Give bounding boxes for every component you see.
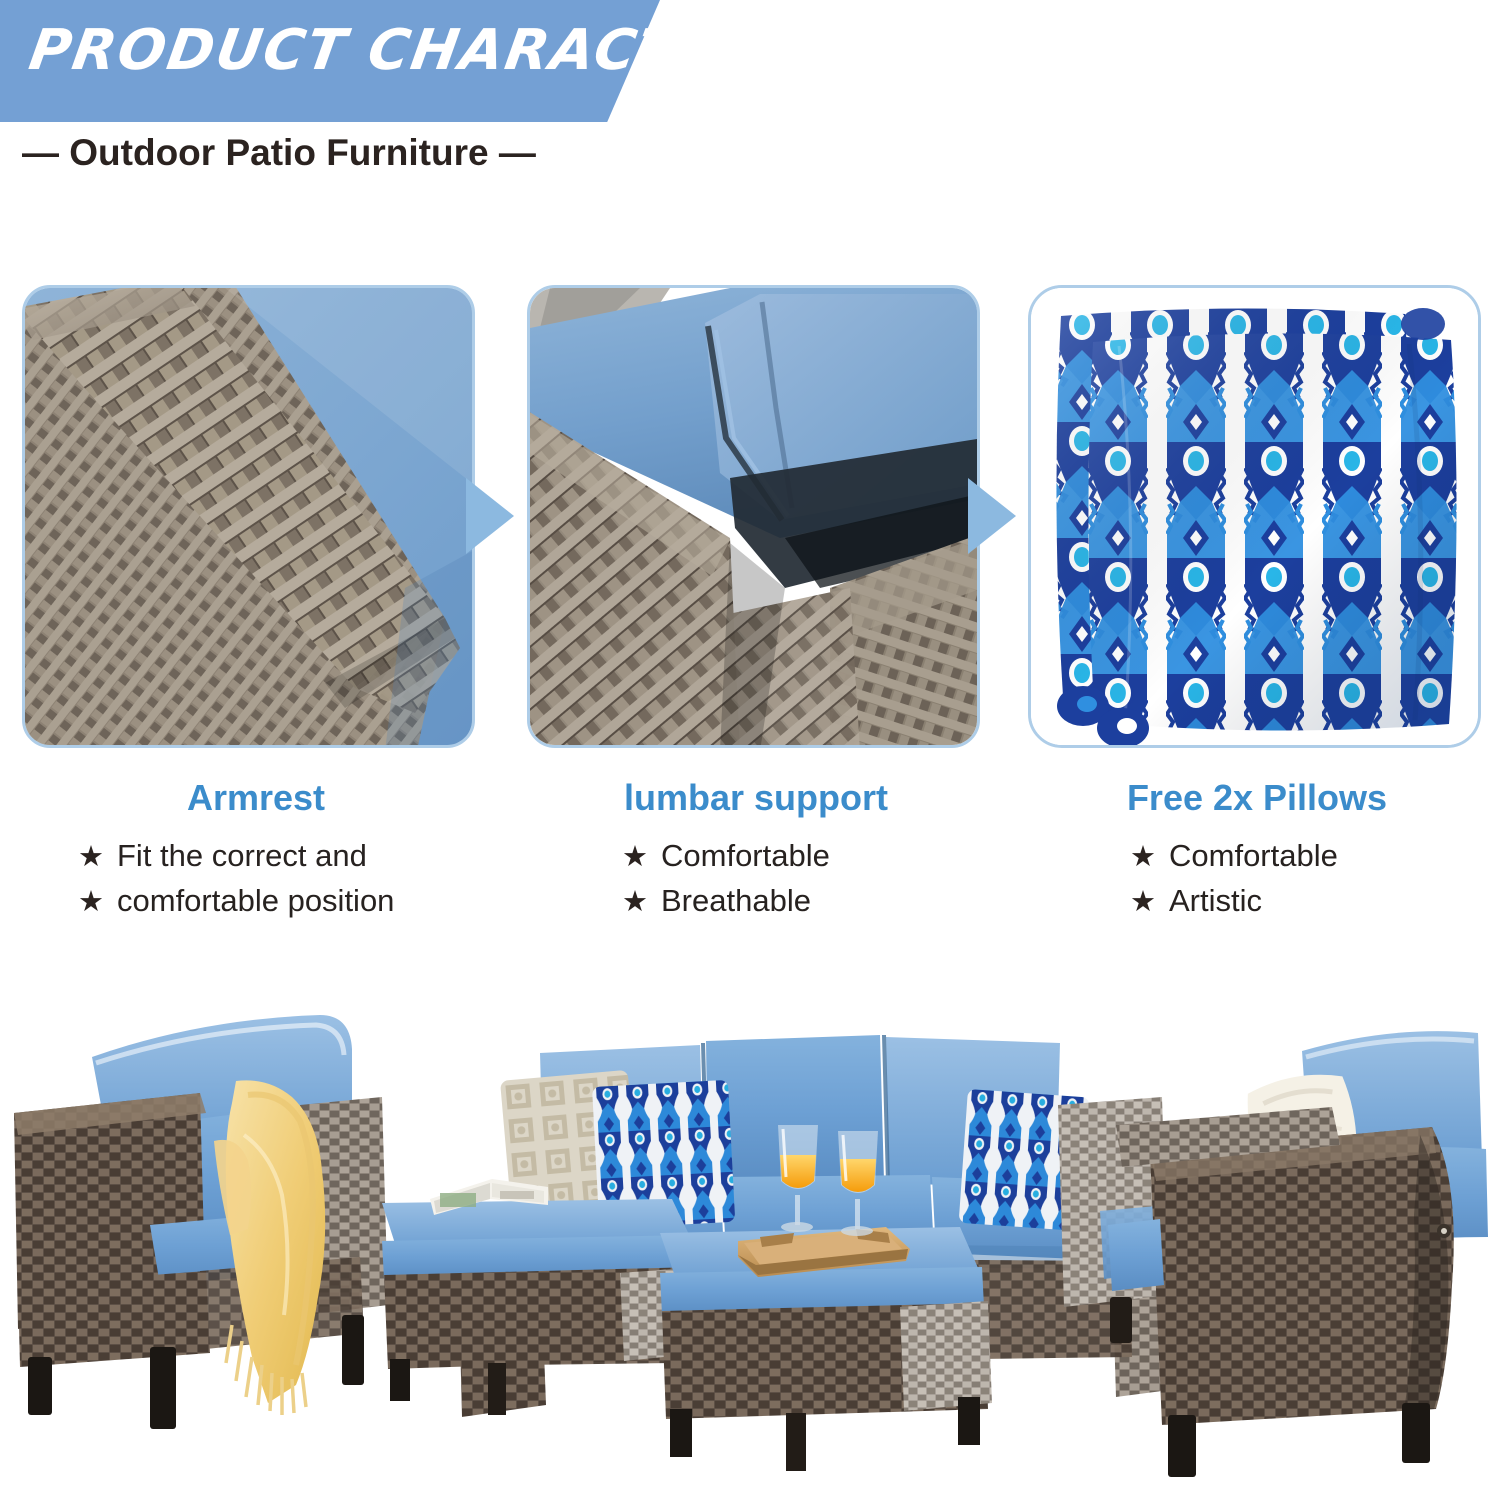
flow-arrow-icon (968, 478, 1016, 554)
feature-card-lumbar-support (527, 285, 980, 748)
list-item: ★ Comfortable (622, 834, 982, 879)
bullet-text: Comfortable (661, 834, 830, 879)
feature-bullets-lumbar-support: ★ Comfortable ★ Breathable (522, 834, 982, 924)
feature-bullets-free-pillows: ★ Comfortable ★ Artistic (1024, 834, 1484, 924)
lifestyle-product-photo (0, 985, 1500, 1500)
star-icon: ★ (1130, 843, 1156, 872)
list-item: ★ Comfortable (1130, 834, 1484, 879)
feature-title-lumbar-support: lumbar support (522, 778, 982, 818)
feature-bullets-armrest: ★ Fit the correct and ★ comfortable posi… (18, 834, 478, 924)
bullet-text: Fit the correct and (117, 834, 367, 879)
feature-caption-lumbar-support: lumbar support ★ Comfortable ★ Breathabl… (522, 778, 982, 939)
star-icon: ★ (622, 888, 648, 917)
feature-card-free-pillows (1028, 285, 1481, 748)
lumbar-support-photo (530, 288, 977, 745)
feature-card-armrest (22, 285, 475, 748)
feature-title-free-pillows: Free 2x Pillows (1024, 778, 1484, 818)
bullet-text: Comfortable (1169, 834, 1338, 879)
list-item: ★ comfortable position (78, 879, 478, 924)
star-icon: ★ (78, 843, 104, 872)
star-icon: ★ (78, 888, 104, 917)
bullet-text: comfortable position (117, 879, 394, 924)
armrest-photo (25, 288, 472, 745)
list-item: ★ Artistic (1130, 879, 1484, 924)
page-subtitle: — Outdoor Patio Furniture — (22, 132, 536, 174)
feature-caption-armrest: Armrest ★ Fit the correct and ★ comforta… (18, 778, 478, 939)
list-item: ★ Breathable (622, 879, 982, 924)
pillows-photo (1031, 288, 1478, 745)
list-item: ★ Fit the correct and (78, 834, 478, 879)
star-icon: ★ (622, 843, 648, 872)
bullet-text: Artistic (1169, 879, 1262, 924)
bullet-text: Breathable (661, 879, 811, 924)
star-icon: ★ (1130, 888, 1156, 917)
feature-caption-free-pillows: Free 2x Pillows ★ Comfortable ★ Artistic (1024, 778, 1484, 939)
flow-arrow-icon (466, 478, 514, 554)
page-title: PRODUCT CHARACTER (25, 18, 769, 83)
feature-title-armrest: Armrest (18, 778, 478, 818)
